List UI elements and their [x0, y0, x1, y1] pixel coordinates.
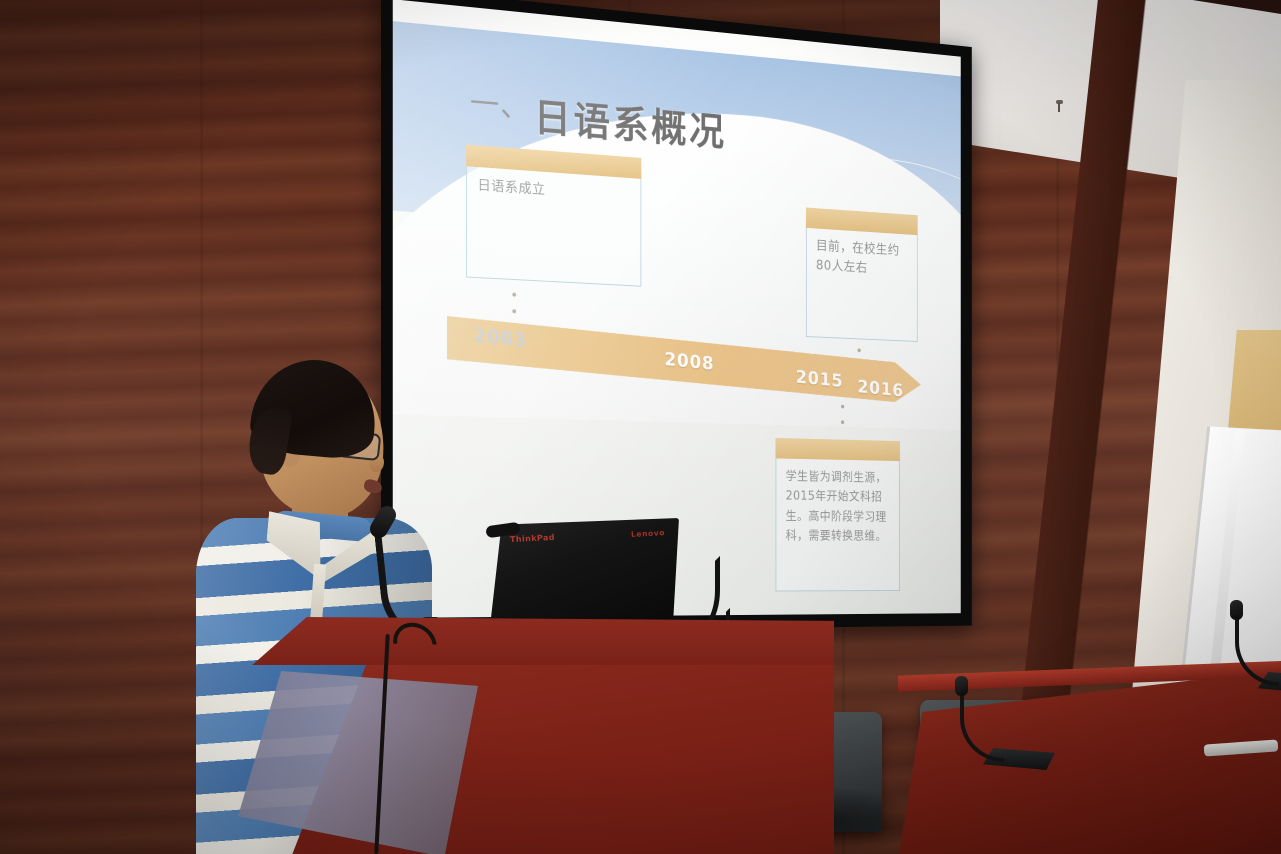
timeline-year: 2003 [474, 325, 528, 352]
slide-callout-card: 学生皆为调剂生源，2015年开始文科招生。高中阶段学习理科，需要转换思维。 [776, 438, 900, 591]
podium-top-edge [228, 617, 834, 665]
card-text: 目前，在校生约80人左右 [816, 237, 910, 281]
card-text: 日语系成立 [477, 176, 633, 207]
timeline-year: 2015 [796, 367, 844, 392]
timeline-year: 2008 [664, 349, 714, 375]
lecture-hall-scene: 一、 日语系概况 日语系成立 目前，在校生约80人左右 学生皆为调剂生源，201… [0, 0, 1281, 854]
card-text: 学生皆为调剂生源，2015年开始文科招生。高中阶段学习理科，需要转换思维。 [786, 467, 893, 547]
card-accent-bar [776, 438, 900, 461]
connector-dots [841, 405, 844, 436]
sprinkler-head-icon [1055, 100, 1064, 113]
slide-title-number: 一、 [470, 78, 530, 127]
podium [228, 617, 834, 854]
timeline-year: 2016 [857, 377, 903, 402]
slide-callout-card: 目前，在校生约80人左右 [806, 207, 918, 341]
podium-reading-surface [238, 671, 478, 854]
laptop[interactable]: ThinkPad Lenovo [484, 518, 679, 628]
slide-callout-card: 日语系成立 [466, 145, 641, 287]
lenovo-logo: Lenovo [631, 528, 665, 539]
